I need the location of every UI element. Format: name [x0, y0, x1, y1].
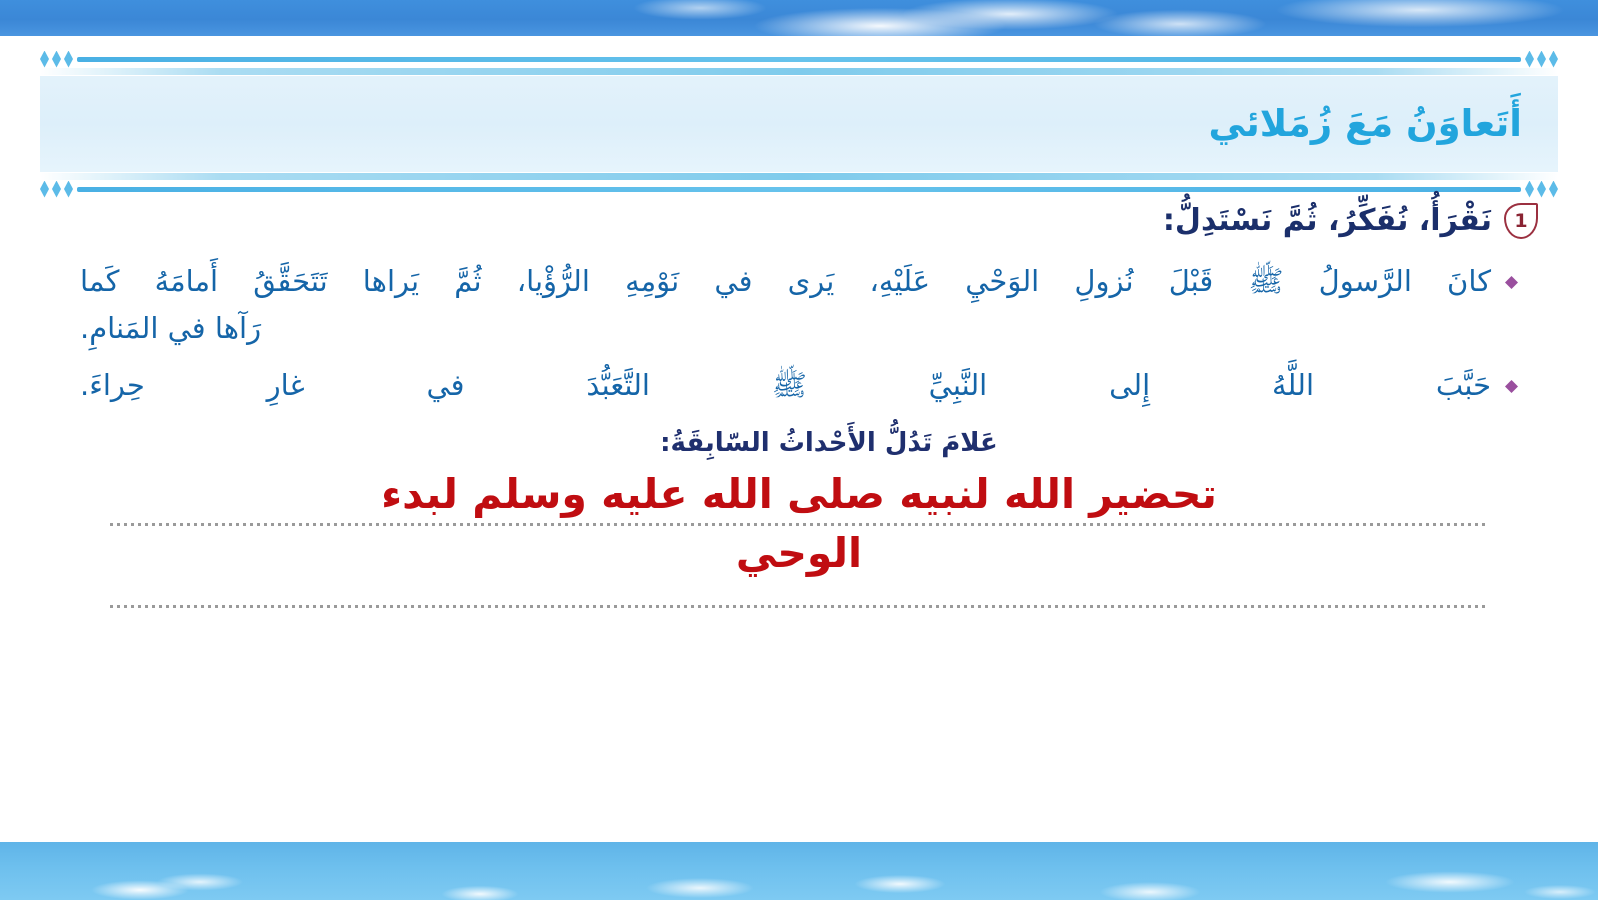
answer-rule-line-2 [110, 605, 1488, 608]
sky-banner-bottom-decoration [0, 842, 1598, 900]
diamond-icon [1525, 181, 1534, 198]
section-title-banner: أَتَعاوَنُ مَعَ زُمَلائي [40, 76, 1558, 172]
diamond-icon [1549, 181, 1558, 198]
bullet-line-1-part-1: كانَ الرَّسولُ ﷺ قَبْلَ نُزولِ الوَحْيِ … [80, 264, 1491, 298]
diamond-icon [40, 51, 49, 68]
decorative-rule-top [40, 48, 1558, 70]
decorative-rule-bottom [40, 178, 1558, 200]
diamond-group-left-bottom [40, 181, 73, 198]
diamond-icon [1537, 51, 1546, 68]
question-number: 1 [1514, 210, 1527, 232]
page-title: أَتَعاوَنُ مَعَ زُمَلائي [1208, 102, 1522, 146]
rule-line [77, 187, 1521, 192]
bullet-text-2: حَبَّبَ اللَّهُ إِلى النَّبِيِّ ﷺ التَّع… [80, 362, 1491, 409]
exercise-content: 1 نَقْرَأُ، نُفَكِّرُ، ثُمَّ نَسْتَدِلُّ… [40, 200, 1558, 582]
answer-text-line-1[interactable]: تحضير الله لنبيه صلى الله عليه وسلم لبدء [110, 465, 1488, 523]
diamond-group-right-bottom [1525, 181, 1558, 198]
diamond-icon [1525, 51, 1534, 68]
diamond-group-left-top [40, 51, 73, 68]
rule-line [77, 57, 1521, 62]
bullet-item: كانَ الرَّسولُ ﷺ قَبْلَ نُزولِ الوَحْيِ … [40, 258, 1558, 352]
diamond-bullet-icon [1505, 380, 1518, 393]
diamond-group-right-top [1525, 51, 1558, 68]
prompt-question: عَلامَ تَدُلُّ الأَحْداثُ السّابِقَةُ: [40, 425, 1558, 461]
bullet-line-1-part-2: رَآها في المَنامِ. [80, 305, 1491, 352]
diamond-icon [40, 181, 49, 198]
diamond-icon [64, 181, 73, 198]
diamond-icon [64, 51, 73, 68]
answer-writing-area[interactable]: تحضير الله لنبيه صلى الله عليه وسلم لبدء… [40, 465, 1558, 581]
question-heading: 1 نَقْرَأُ، نُفَكِّرُ، ثُمَّ نَسْتَدِلُّ… [40, 200, 1558, 242]
bullet-text-1: كانَ الرَّسولُ ﷺ قَبْلَ نُزولِ الوَحْيِ … [80, 258, 1491, 352]
answer-text-line-2[interactable]: الوحي [110, 524, 1488, 582]
diamond-bullet-icon [1505, 276, 1518, 289]
diamond-icon [52, 51, 61, 68]
worksheet-page: أَتَعاوَنُ مَعَ زُمَلائي 1 نَقْرَأُ، نُف… [0, 0, 1598, 900]
bullet-item: حَبَّبَ اللَّهُ إِلى النَّبِيِّ ﷺ التَّع… [40, 362, 1558, 409]
question-number-badge: 1 [1504, 203, 1538, 239]
diamond-icon [1537, 181, 1546, 198]
diamond-icon [52, 181, 61, 198]
diamond-icon [1549, 51, 1558, 68]
question-text: نَقْرَأُ، نُفَكِّرُ، ثُمَّ نَسْتَدِلُّ: [1163, 200, 1492, 242]
sky-banner-top-decoration [0, 0, 1598, 36]
